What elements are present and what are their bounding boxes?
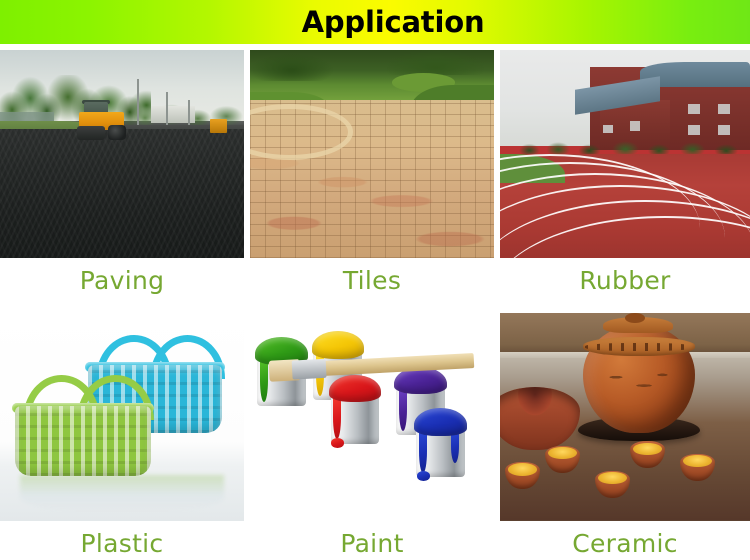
tea-liquid bbox=[508, 463, 537, 475]
tea-liquid bbox=[633, 443, 662, 455]
tea-liquid bbox=[598, 472, 627, 484]
roller-drum bbox=[77, 126, 106, 139]
application-card-tiles[interactable]: Tiles bbox=[250, 50, 494, 295]
application-label-tiles: Tiles bbox=[343, 267, 401, 295]
application-label-paving: Paving bbox=[80, 267, 165, 295]
tiles-thumbnail[interactable] bbox=[250, 50, 494, 258]
red-paint-can bbox=[331, 375, 380, 444]
paint-blob bbox=[331, 438, 344, 448]
utility-pole bbox=[166, 92, 168, 127]
page-title: Application bbox=[302, 8, 485, 37]
application-label-ceramic: Ceramic bbox=[572, 530, 678, 558]
second-road-roller bbox=[210, 119, 227, 134]
asphalt-surface bbox=[0, 129, 244, 258]
paving-thumbnail[interactable] bbox=[0, 50, 244, 258]
teapot-knob bbox=[625, 313, 645, 323]
building-window bbox=[630, 121, 640, 131]
basket-body bbox=[15, 406, 152, 476]
application-page: Application bbox=[0, 0, 750, 560]
application-grid: Paving Tiles bbox=[0, 44, 750, 557]
utility-pole bbox=[137, 79, 139, 129]
building-window bbox=[603, 125, 613, 133]
roller-wheel bbox=[108, 125, 125, 140]
application-label-plastic: Plastic bbox=[81, 530, 164, 558]
application-card-paint[interactable]: Paint bbox=[250, 313, 494, 558]
paint-pour bbox=[329, 375, 382, 402]
application-label-rubber: Rubber bbox=[579, 267, 670, 295]
tea-liquid bbox=[548, 447, 577, 459]
brush-ferrule bbox=[291, 359, 326, 380]
application-card-ceramic[interactable]: Ceramic bbox=[500, 313, 750, 558]
teapot-studs bbox=[585, 343, 693, 351]
building-window bbox=[718, 125, 731, 135]
building-window bbox=[718, 104, 731, 114]
green-plastic-basket bbox=[15, 379, 152, 491]
paint-thumbnail[interactable] bbox=[250, 313, 494, 521]
application-row: Plastic bbox=[0, 313, 750, 558]
application-card-rubber[interactable]: Rubber bbox=[500, 50, 750, 295]
plastic-baskets-photo bbox=[0, 313, 244, 521]
utility-pole bbox=[188, 100, 190, 127]
red-running-track-photo bbox=[500, 50, 750, 258]
page-header-banner: Application bbox=[0, 0, 750, 44]
paint-pour bbox=[414, 408, 467, 435]
blue-paint-can bbox=[416, 408, 465, 477]
road-roller-machine bbox=[76, 102, 127, 142]
teapot-engraving bbox=[600, 362, 680, 399]
rubber-thumbnail[interactable] bbox=[500, 50, 750, 258]
plastic-thumbnail[interactable] bbox=[0, 313, 244, 521]
shrub-cluster-right bbox=[387, 50, 485, 75]
application-card-paving[interactable]: Paving bbox=[0, 50, 244, 295]
application-row: Paving Tiles bbox=[0, 50, 750, 295]
brick-paver-walkway-photo bbox=[250, 50, 494, 258]
shrub-cluster-left bbox=[250, 54, 333, 81]
paint-cans-brush-photo bbox=[250, 313, 494, 521]
paint-drip bbox=[419, 430, 427, 473]
application-card-plastic[interactable]: Plastic bbox=[0, 313, 244, 558]
building-window bbox=[688, 104, 701, 114]
asphalt-road-roller-photo bbox=[0, 50, 244, 258]
ceramic-thumbnail[interactable] bbox=[500, 313, 750, 521]
paint-blob bbox=[417, 471, 430, 481]
clay-teapot-cups-photo bbox=[500, 313, 750, 521]
tea-liquid bbox=[683, 455, 712, 467]
building-window bbox=[688, 125, 701, 135]
application-label-paint: Paint bbox=[340, 530, 403, 558]
paint-pour bbox=[312, 331, 365, 358]
